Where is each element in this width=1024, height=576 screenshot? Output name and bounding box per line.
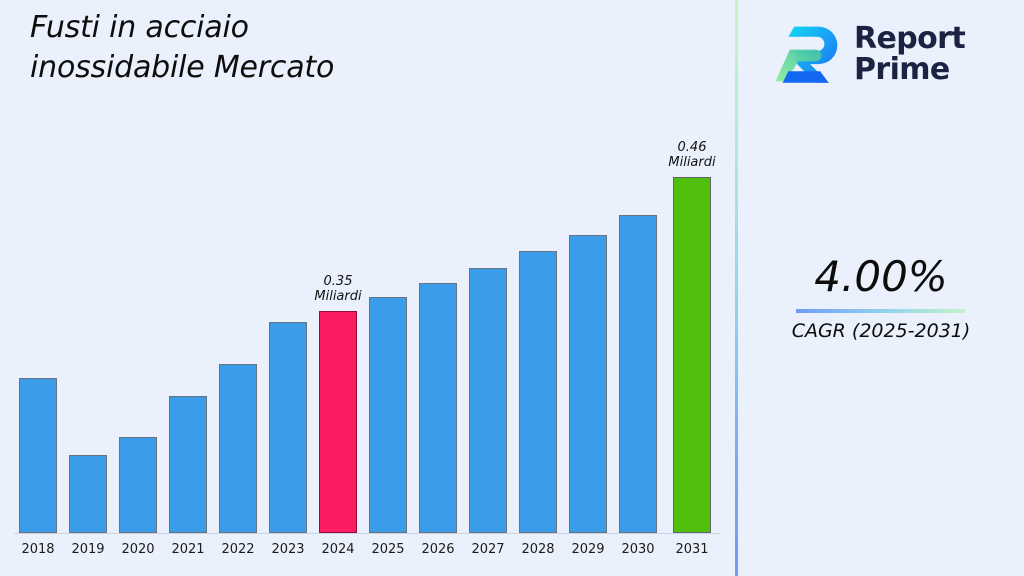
bar-2028 — [519, 251, 557, 533]
bar-2026 — [419, 283, 457, 533]
logo-line-1: Report — [854, 21, 965, 56]
bar-2020 — [119, 437, 157, 533]
bar-2019 — [69, 455, 107, 533]
bar-value-label-2031: 0.46 Miliardi — [637, 140, 747, 171]
bar-2027 — [469, 268, 507, 533]
report-prime-r-mark-icon — [774, 18, 846, 90]
bar-2023 — [269, 322, 307, 533]
bar-chart-plot: 2018201920202021202220230.35 Miliardi202… — [0, 0, 736, 576]
cagr-block: 4.00% CAGR (2025-2031) — [738, 252, 1024, 342]
bar-2018 — [19, 378, 57, 533]
cagr-value: 4.00% — [738, 252, 1024, 301]
cagr-divider-rule — [796, 309, 966, 313]
brand-panel: Report Prime 4.00% CAGR (2025-2031) — [738, 0, 1024, 576]
chart-panel: Fusti in acciaio inossidabile Mercato 20… — [0, 0, 736, 576]
bar-2025 — [369, 297, 407, 533]
x-axis-tick-2030: 2030 — [608, 542, 668, 557]
chart-infographic: Fusti in acciaio inossidabile Mercato 20… — [0, 0, 1024, 576]
logo-wordmark: Report Prime — [854, 23, 965, 86]
x-axis-line — [14, 533, 720, 534]
cagr-caption: CAGR (2025-2031) — [738, 320, 1024, 342]
bar-2024 — [319, 311, 357, 533]
bar-2021 — [169, 396, 207, 533]
bar-2031 — [673, 177, 711, 533]
logo-line-2: Prime — [854, 52, 950, 87]
x-axis-tick-2031: 2031 — [662, 542, 722, 557]
report-prime-logo: Report Prime — [774, 12, 1004, 96]
bar-2029 — [569, 235, 607, 533]
bar-2022 — [219, 364, 257, 533]
bar-2030 — [619, 215, 657, 533]
